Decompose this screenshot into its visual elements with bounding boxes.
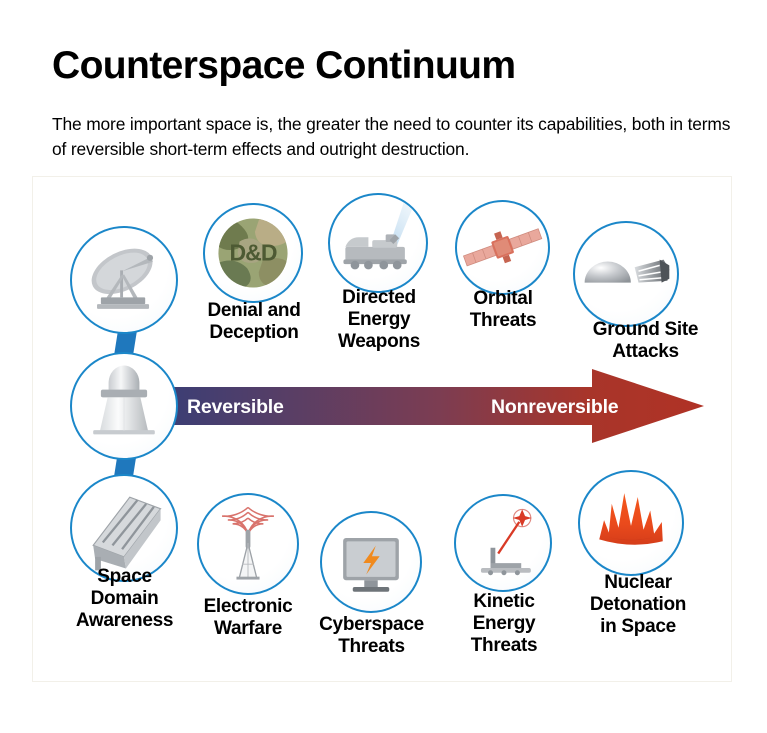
label-denial-deception: Denial and Deception — [183, 300, 325, 344]
infographic-root: Counterspace Continuum The more importan… — [0, 0, 767, 733]
antenna-waves-icon — [199, 495, 297, 593]
arrow-label-nonreversible: Nonreversible — [491, 396, 618, 419]
label-orbital-threats: Orbital Threats — [437, 288, 569, 332]
circle-nuclear-detonation[interactable] — [578, 470, 684, 576]
circle-satellite-dish[interactable] — [70, 226, 178, 334]
laser-truck-icon — [330, 195, 426, 291]
ground-dome-strike-icon — [575, 223, 677, 325]
label-space-domain-awareness: Space Domain Awareness — [52, 566, 197, 632]
label-ground-site-attacks: Ground Site Attacks — [558, 319, 733, 363]
launcher-laser-icon — [456, 496, 550, 590]
svg-text:D&D: D&D — [229, 240, 276, 266]
arrow-label-reversible: Reversible — [187, 396, 284, 419]
label-directed-energy-weapons: Directed Energy Weapons — [315, 287, 443, 353]
camouflage-dd-icon: D&D — [205, 205, 301, 301]
radome-nosecone-icon — [72, 354, 176, 458]
label-nuclear-detonation: Nuclear Detonation in Space — [560, 572, 716, 638]
solar-panels-icon — [72, 476, 176, 580]
page-title: Counterspace Continuum — [52, 44, 515, 88]
circle-ground-site-attacks[interactable] — [573, 221, 679, 327]
satellite-dish-icon — [72, 228, 176, 332]
circle-cyberspace-threats[interactable] — [320, 511, 422, 613]
page-subtitle: The more important space is, the greater… — [52, 112, 742, 162]
circle-orbital-threats[interactable] — [455, 200, 550, 295]
orbital-satellite-icon — [457, 202, 548, 293]
circle-kinetic-energy-threats[interactable] — [454, 494, 552, 592]
monitor-bolt-icon — [322, 513, 420, 611]
label-cyberspace-threats: Cyberspace Threats — [303, 614, 440, 658]
label-electronic-warfare: Electronic Warfare — [183, 596, 313, 640]
circle-radome-nosecone[interactable] — [70, 352, 178, 460]
circle-directed-energy[interactable] — [328, 193, 428, 293]
explosion-burst-icon — [580, 472, 682, 574]
label-kinetic-energy-threats: Kinetic Energy Threats — [440, 591, 568, 657]
circle-denial-deception[interactable]: D&D — [203, 203, 303, 303]
circle-electronic-warfare[interactable] — [197, 493, 299, 595]
